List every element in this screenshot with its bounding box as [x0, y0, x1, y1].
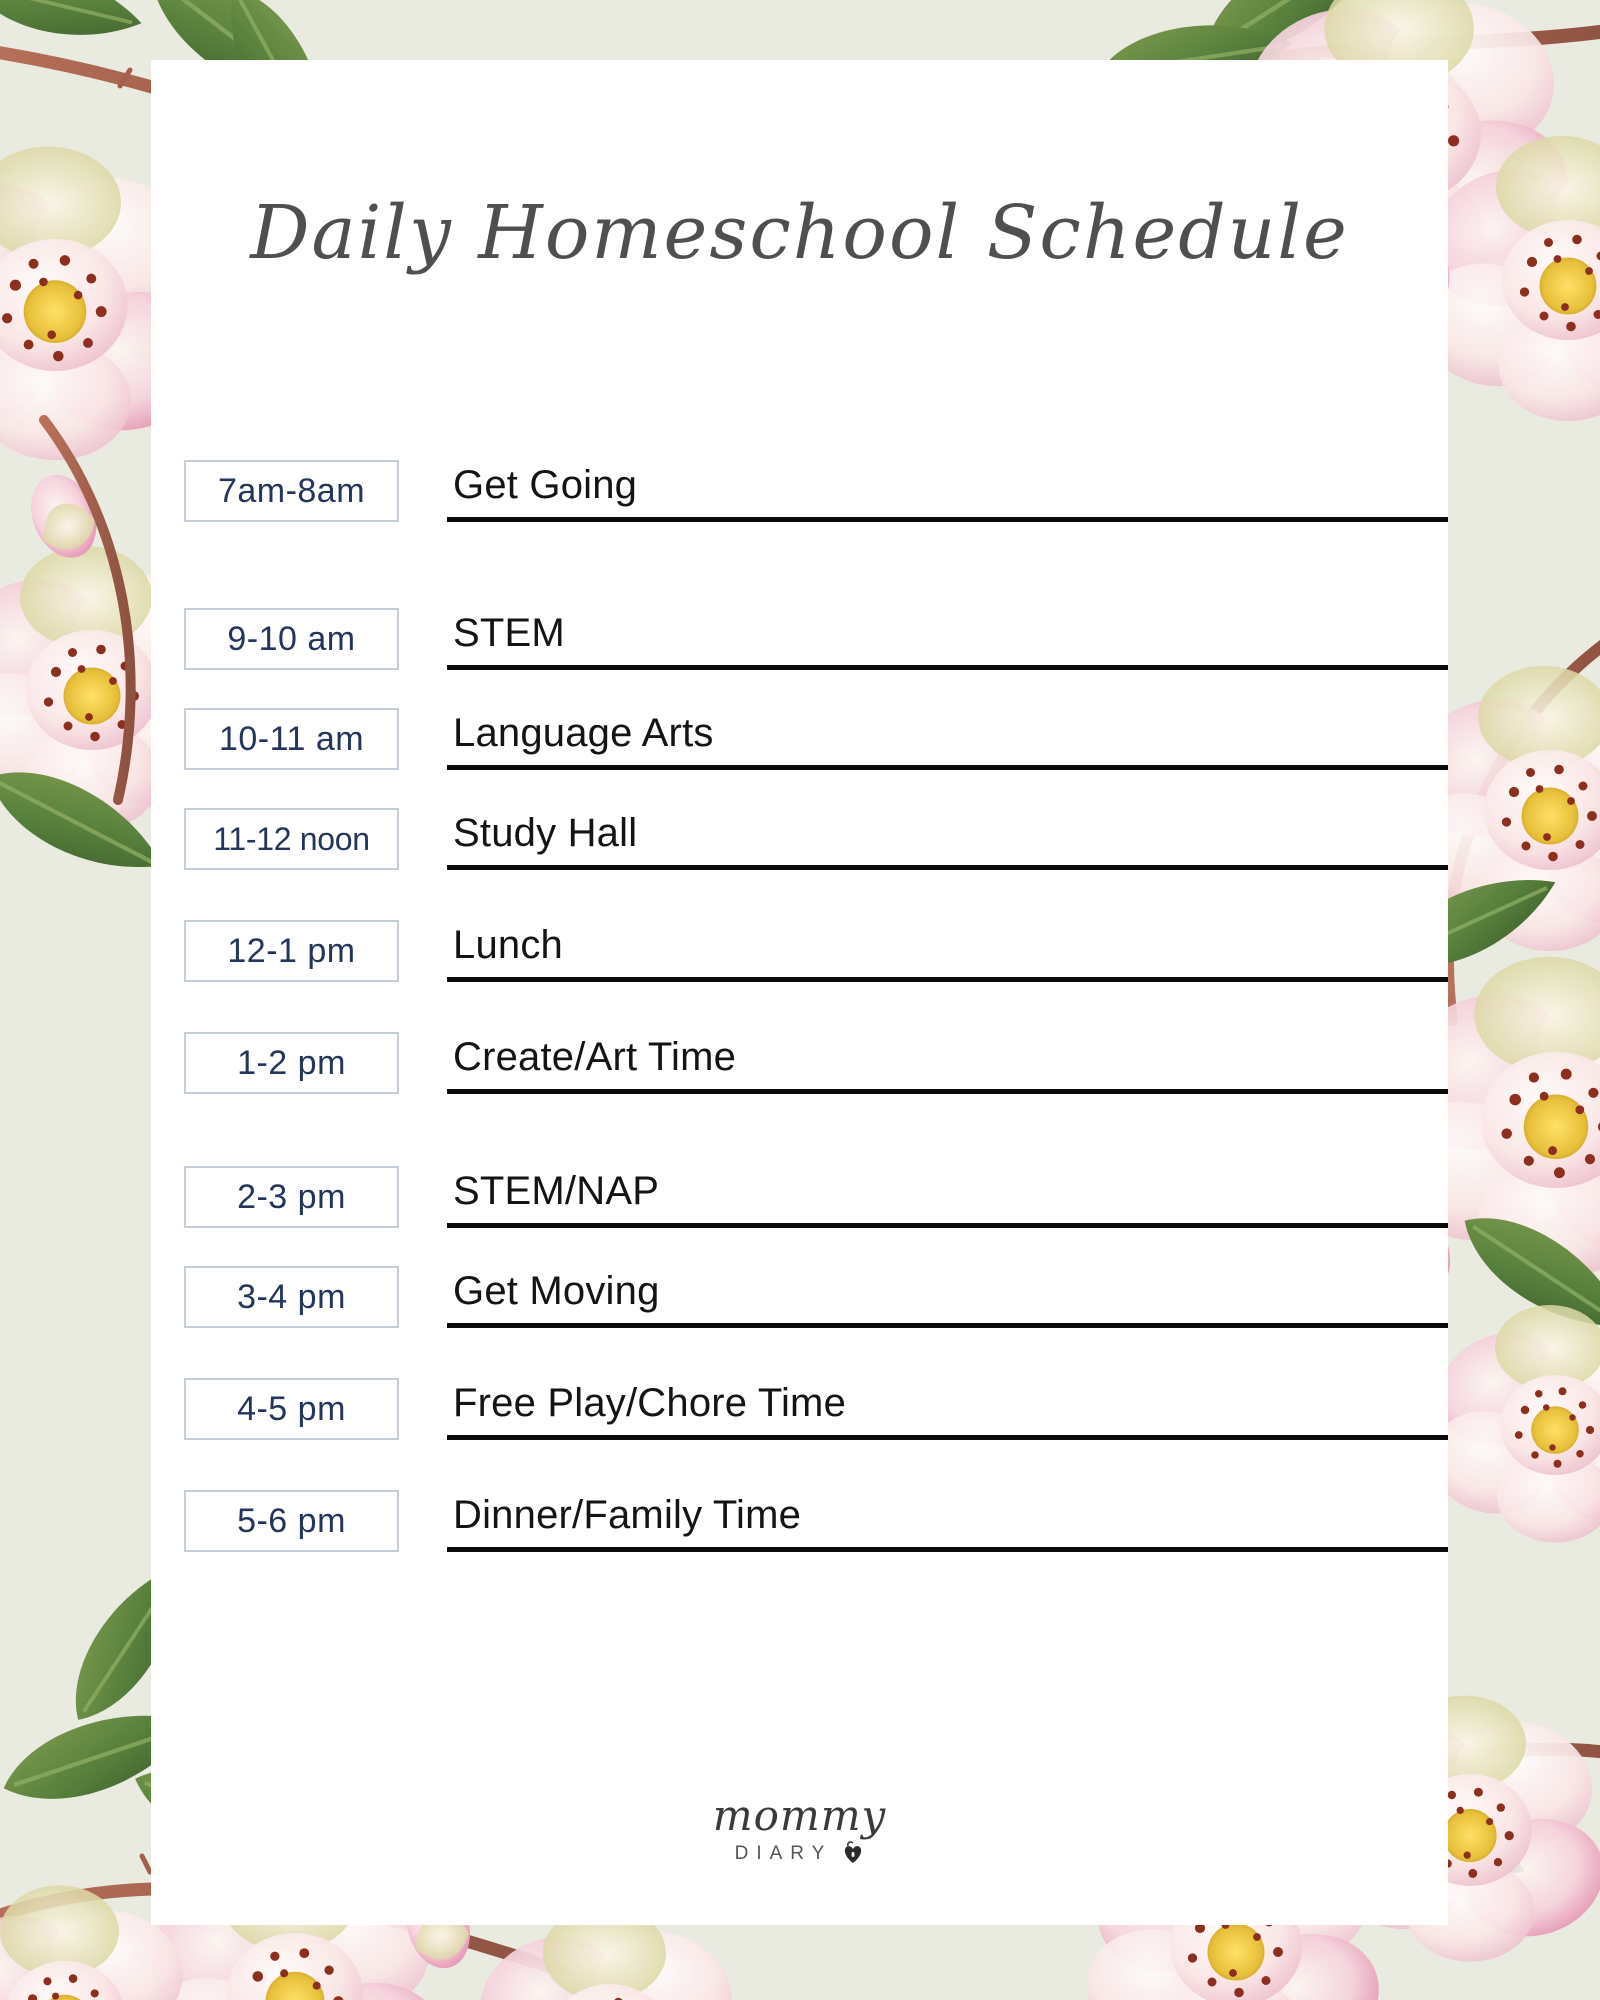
activity-entry[interactable]: STEM/NAP: [447, 1166, 1448, 1228]
activity-entry[interactable]: Create/Art Time: [447, 1032, 1448, 1094]
time-slot-box[interactable]: 4-5 pm: [184, 1378, 399, 1440]
time-slot-label: 3-4 pm: [237, 1278, 346, 1317]
schedule-row[interactable]: 3-4 pm Get Moving: [151, 1246, 1448, 1328]
activity-label: Dinner/Family Time: [453, 1493, 801, 1538]
activity-label: Lunch: [453, 923, 563, 968]
schedule-list: 7am-8am Get Going 9-10 am STEM 10-11 am …: [151, 440, 1448, 1552]
activity-label: Free Play/Chore Time: [453, 1381, 846, 1426]
write-in-rule: [447, 1547, 1448, 1552]
activity-entry[interactable]: Get Going: [447, 460, 1448, 522]
activity-label: Study Hall: [453, 811, 637, 856]
brand-sub-text: DIARY: [735, 1843, 833, 1865]
time-slot-box[interactable]: 9-10 am: [184, 608, 399, 670]
write-in-rule: [447, 1323, 1448, 1328]
write-in-rule: [447, 865, 1448, 870]
activity-entry[interactable]: Get Moving: [447, 1266, 1448, 1328]
schedule-row[interactable]: 2-3 pm STEM/NAP: [151, 1146, 1448, 1228]
time-slot-label: 9-10 am: [227, 620, 355, 659]
activity-label: STEM/NAP: [453, 1169, 659, 1214]
activity-label: Create/Art Time: [453, 1035, 736, 1080]
write-in-rule: [447, 517, 1448, 522]
time-slot-box[interactable]: 10-11 am: [184, 708, 399, 770]
time-slot-label: 4-5 pm: [237, 1390, 346, 1429]
time-slot-box[interactable]: 3-4 pm: [184, 1266, 399, 1328]
activity-entry[interactable]: Lunch: [447, 920, 1448, 982]
time-slot-box[interactable]: 1-2 pm: [184, 1032, 399, 1094]
time-slot-box[interactable]: 2-3 pm: [184, 1166, 399, 1228]
time-slot-label: 1-2 pm: [237, 1044, 346, 1083]
activity-label: Language Arts: [453, 711, 714, 756]
schedule-row[interactable]: 7am-8am Get Going: [151, 440, 1448, 522]
activity-label: Get Going: [453, 463, 637, 508]
time-slot-label: 7am-8am: [218, 472, 365, 511]
heart-lock-charm-icon: [842, 1841, 864, 1867]
time-slot-label: 2-3 pm: [237, 1178, 346, 1217]
time-slot-box[interactable]: 12-1 pm: [184, 920, 399, 982]
activity-entry[interactable]: Study Hall: [447, 808, 1448, 870]
time-slot-box[interactable]: 7am-8am: [184, 460, 399, 522]
activity-entry[interactable]: STEM: [447, 608, 1448, 670]
write-in-rule: [447, 1089, 1448, 1094]
activity-label: Get Moving: [453, 1269, 660, 1314]
write-in-rule: [447, 1435, 1448, 1440]
time-slot-label: 12-1 pm: [227, 932, 355, 971]
write-in-rule: [447, 665, 1448, 670]
brand-script-text: mommy: [713, 1795, 887, 1837]
time-slot-label: 11-12 noon: [213, 821, 370, 858]
write-in-rule: [447, 765, 1448, 770]
brand-sub-wrap: DIARY: [735, 1841, 865, 1867]
activity-label: STEM: [453, 611, 565, 656]
printable-sheet: Daily Homeschool Schedule 7am-8am Get Go…: [151, 60, 1448, 1925]
time-slot-label: 5-6 pm: [237, 1502, 346, 1541]
time-slot-box[interactable]: 5-6 pm: [184, 1490, 399, 1552]
schedule-row[interactable]: 11-12 noon Study Hall: [151, 788, 1448, 870]
time-slot-label: 10-11 am: [219, 720, 364, 759]
schedule-row[interactable]: 4-5 pm Free Play/Chore Time: [151, 1358, 1448, 1440]
brand-logo: mommy DIARY: [151, 1795, 1448, 1867]
write-in-rule: [447, 1223, 1448, 1228]
schedule-row[interactable]: 5-6 pm Dinner/Family Time: [151, 1470, 1448, 1552]
activity-entry[interactable]: Free Play/Chore Time: [447, 1378, 1448, 1440]
schedule-row[interactable]: 1-2 pm Create/Art Time: [151, 1012, 1448, 1094]
time-slot-box[interactable]: 11-12 noon: [184, 808, 399, 870]
schedule-row[interactable]: 12-1 pm Lunch: [151, 900, 1448, 982]
activity-entry[interactable]: Language Arts: [447, 708, 1448, 770]
schedule-row[interactable]: 9-10 am STEM: [151, 588, 1448, 670]
activity-entry[interactable]: Dinner/Family Time: [447, 1490, 1448, 1552]
page-title: Daily Homeschool Schedule: [151, 190, 1448, 276]
schedule-row[interactable]: 10-11 am Language Arts: [151, 688, 1448, 770]
write-in-rule: [447, 977, 1448, 982]
